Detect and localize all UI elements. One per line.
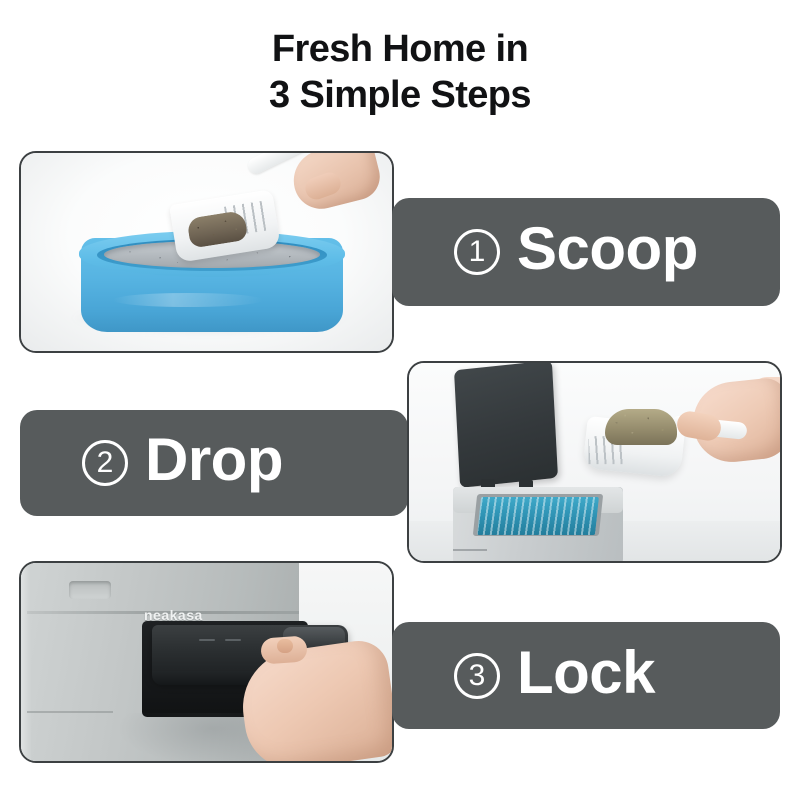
- tray-gloss-highlight: [113, 293, 263, 307]
- title-line-2: 3 Simple Steps: [0, 72, 800, 118]
- bin-lid-open: [454, 361, 558, 488]
- appliance-grip-handle: [69, 581, 111, 599]
- fingernail: [277, 639, 293, 653]
- litter-clump: [605, 409, 677, 445]
- step-label-text-scoop: Scoop: [517, 219, 698, 285]
- scoop-scene: [21, 153, 392, 351]
- step-3-photo-drawer-lock: neakasa: [19, 561, 394, 763]
- blue-bag-liner: [477, 497, 599, 535]
- bin-panel-seam: [453, 549, 487, 551]
- title-line-1: Fresh Home in: [272, 28, 528, 70]
- drawer-notch-right: [225, 639, 241, 641]
- promotional-infographic: Fresh Home in 3 Simple Steps 1 Scoop 2: [0, 0, 800, 800]
- lock-scene: neakasa: [21, 563, 392, 761]
- appliance-bottom-seam: [27, 711, 113, 713]
- step-label-text-lock: Lock: [517, 643, 655, 709]
- step-number-circle-3: 3: [454, 653, 500, 699]
- step-number-circle-1: 1: [454, 229, 500, 275]
- step-label-text-drop: Drop: [145, 430, 283, 496]
- step-1-photo-litter-tray-scoop: [19, 151, 394, 353]
- step-number-circle-2: 2: [82, 440, 128, 486]
- drop-scene: [409, 363, 780, 561]
- drawer-notch-left: [199, 639, 215, 641]
- litter-clump: [186, 210, 248, 249]
- step-3-label-lock: 3 Lock: [392, 622, 780, 729]
- page-title: Fresh Home in 3 Simple Steps: [0, 26, 800, 119]
- step-2-photo-waste-bin-drop: [407, 361, 782, 563]
- step-2-label-drop: 2 Drop: [20, 410, 408, 516]
- appliance-side-panel: [21, 563, 31, 763]
- step-1-label-scoop: 1 Scoop: [392, 198, 780, 306]
